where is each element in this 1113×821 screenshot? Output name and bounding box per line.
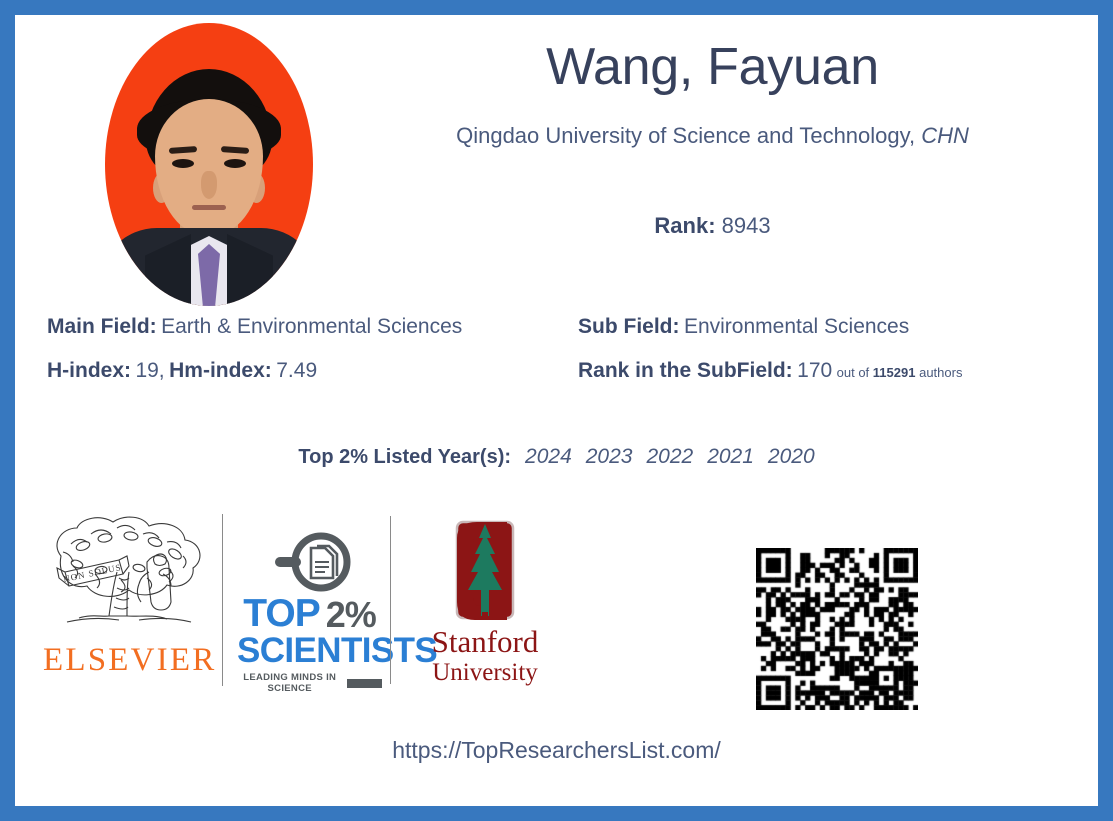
researcher-profile-card: Wang, Fayuan Qingdao University of Scien… — [0, 0, 1113, 821]
main-field-label: Main Field: — [47, 315, 157, 338]
elsevier-wordmark: ELSEVIER — [43, 642, 215, 679]
info-row-indices: H-index: 19, Hm-index: 7.49 Rank in the … — [15, 359, 1098, 403]
top2-scientists-logo: TOP 2% SCIENTISTS LEADING MINDS IN SCIEN… — [237, 532, 382, 694]
info-section: Main Field: Earth & Environmental Scienc… — [15, 315, 1098, 403]
qr-code[interactable] — [756, 548, 918, 710]
index-group: H-index: 19, Hm-index: 7.49 — [47, 359, 317, 383]
magnifier-document-icon — [237, 532, 382, 594]
qr-code-canvas[interactable] — [756, 548, 918, 710]
out-of-prefix: out of — [837, 365, 870, 380]
listed-years-label: Top 2% Listed Year(s): — [298, 446, 511, 468]
top2-word-scientists: SCIENTISTS — [237, 633, 382, 669]
h-index-label: H-index: — [47, 359, 131, 382]
affiliation-country-code: CHN — [921, 123, 969, 148]
logo-divider-1 — [222, 514, 223, 686]
listed-year: 2022 — [646, 445, 693, 468]
main-field-group: Main Field: Earth & Environmental Scienc… — [47, 315, 462, 339]
subfield-rank-value: 170 — [797, 359, 832, 382]
top2-word-percent: 2% — [326, 597, 376, 633]
listed-year: 2024 — [525, 445, 572, 468]
portrait-brow-right — [221, 146, 249, 154]
portrait-eye-left — [172, 159, 194, 168]
stanford-name: Stanford — [410, 626, 560, 659]
elsevier-tree-icon: NON SOLUS — [43, 512, 215, 640]
listed-year: 2020 — [768, 445, 815, 468]
portrait-face — [155, 99, 263, 235]
top2-tagline: LEADING MINDS IN SCIENCE — [237, 672, 342, 694]
portrait-mouth — [192, 205, 226, 210]
elsevier-logo: NON SOLUS ELSEVIER — [43, 512, 215, 679]
affiliation: Qingdao University of Science and Techno… — [345, 123, 1080, 149]
card-inner: Wang, Fayuan Qingdao University of Scien… — [15, 15, 1098, 806]
stanford-block-s-tree-icon — [433, 516, 537, 624]
sub-field-group: Sub Field: Environmental Sciences — [578, 315, 909, 339]
h-index-value: 19, — [135, 359, 164, 382]
main-field-value: Earth & Environmental Sciences — [161, 315, 462, 338]
logo-divider-2 — [390, 516, 391, 684]
overall-rank: Rank: 8943 — [345, 213, 1080, 239]
stanford-sub: University — [410, 659, 560, 687]
listed-year: 2023 — [586, 445, 633, 468]
sub-field-value: Environmental Sciences — [684, 315, 909, 338]
rank-label: Rank: — [654, 213, 715, 238]
researcher-name: Wang, Fayuan — [345, 37, 1080, 97]
sub-field-label: Sub Field: — [578, 315, 680, 338]
top2-tagline-bar — [347, 679, 382, 688]
avatar — [105, 23, 313, 306]
portrait-eye-right — [224, 159, 246, 168]
subfield-rank-label: Rank in the SubField: — [578, 359, 793, 382]
info-row-fields: Main Field: Earth & Environmental Scienc… — [15, 315, 1098, 359]
subfield-total-authors: out of 115291 authors — [837, 365, 963, 380]
rank-value: 8943 — [722, 213, 771, 238]
top2-tagline-row: LEADING MINDS IN SCIENCE — [237, 672, 382, 694]
website-url[interactable]: https://TopResearchersList.com/ — [15, 737, 1098, 764]
card-header: Wang, Fayuan Qingdao University of Scien… — [15, 15, 1098, 315]
out-of-suffix: authors — [919, 365, 962, 380]
stanford-logo: Stanford University — [410, 516, 560, 686]
top2-headline: TOP 2% — [237, 594, 382, 633]
affiliation-institution: Qingdao University of Science and Techno… — [456, 123, 915, 148]
listed-years-row: Top 2% Listed Year(s):202420232022202120… — [15, 445, 1098, 469]
top2-word-top: TOP — [243, 594, 319, 633]
subfield-rank-group: Rank in the SubField: 170 out of 115291 … — [578, 359, 962, 383]
hm-index-value: 7.49 — [276, 359, 317, 382]
hm-index-label: Hm-index: — [169, 359, 272, 382]
portrait-brow-left — [169, 146, 197, 154]
logo-strip: NON SOLUS ELSEVIER TOP 2% — [15, 500, 1098, 715]
portrait-nose — [201, 171, 217, 199]
profile-photo — [105, 23, 313, 306]
out-of-total: 115291 — [873, 365, 916, 380]
listed-year: 2021 — [707, 445, 754, 468]
